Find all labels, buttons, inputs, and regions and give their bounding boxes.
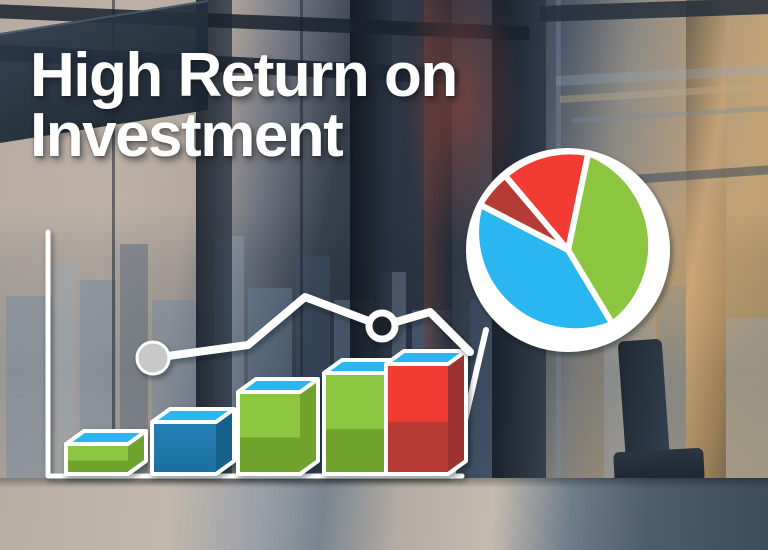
bar-series — [66, 351, 466, 474]
pie-chart — [469, 151, 667, 349]
bar-item — [66, 431, 146, 474]
trend-marker-peak — [369, 313, 395, 339]
trend-marker-start — [137, 342, 169, 374]
bar-item — [238, 379, 318, 474]
bar-item — [152, 409, 234, 474]
bar-item — [386, 351, 466, 474]
trend-line-path — [153, 297, 470, 358]
poster-canvas: High Return on Investment — [0, 0, 768, 550]
infographic-overlay — [0, 0, 768, 550]
